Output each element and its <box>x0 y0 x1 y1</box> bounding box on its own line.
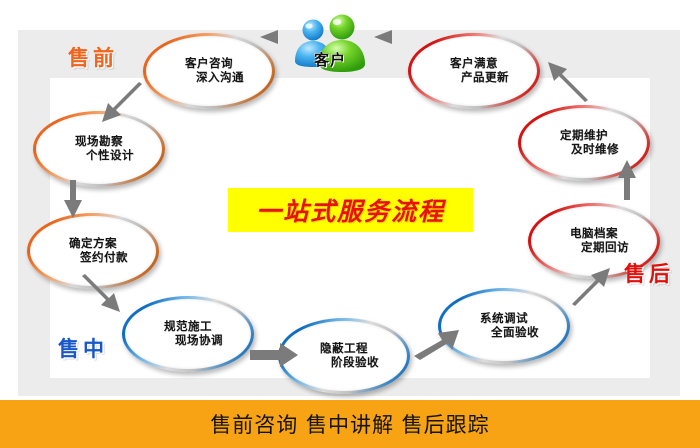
node-n8-label: 定期维护 及时维修 <box>549 129 619 156</box>
node-n4-line2: 现场协调 <box>153 334 223 348</box>
arrow-n5-to-n6 <box>412 322 462 362</box>
node-n8-line1: 定期维护 <box>560 128 608 142</box>
arrow-n4-to-n5 <box>248 340 300 370</box>
footer-text: 售前咨询 售中讲解 售后跟踪 <box>210 409 489 439</box>
node-n6-line2: 全面验收 <box>469 326 539 340</box>
arrow-n2-to-n3 <box>60 178 86 220</box>
node-n5-line2: 阶段验收 <box>309 356 379 370</box>
node-n9-line1: 客户满意 <box>450 56 498 70</box>
node-n2-line1: 现场勘察 <box>75 134 123 148</box>
arrow-n3-to-n4 <box>78 272 128 322</box>
node-n4[interactable]: 规范施工 现场协调 <box>122 296 254 372</box>
arrow-n1-to-n2 <box>96 78 148 130</box>
node-n4-line1: 规范施工 <box>164 319 212 333</box>
arrow-n8-to-n9 <box>540 56 592 104</box>
stage-label-mid-sale: 售中 <box>58 333 108 363</box>
node-n5-label: 隐蔽工程 阶段验收 <box>309 342 379 369</box>
stage-label-pre-sale: 售前 <box>68 42 118 72</box>
node-n9-line2: 产品更新 <box>439 71 509 85</box>
node-n7-line2: 定期回访 <box>559 241 629 255</box>
node-n9-label: 客户满意 产品更新 <box>439 57 509 84</box>
node-n1-line2: 深入沟通 <box>174 71 244 85</box>
footer-banner: 售前咨询 售中讲解 售后跟踪 <box>0 400 700 448</box>
node-n7-line1: 电脑档案 <box>570 226 618 240</box>
node-n1-line1: 客户咨询 <box>185 56 233 70</box>
center-title-banner: 一站式服务流程 <box>228 188 473 232</box>
node-n5-line1: 隐蔽工程 <box>320 341 368 355</box>
node-n2-line2: 个性设计 <box>64 149 134 163</box>
node-n7-label: 电脑档案 定期回访 <box>559 227 629 254</box>
arrow-n7-to-n8 <box>614 158 640 202</box>
diagram-canvas: 客户咨询 深入沟通 现场勘察 个性设计 确定方案 签约付款 规范施工 现场协调 … <box>0 0 700 448</box>
stage-label-post-sale: 售后 <box>624 258 674 288</box>
node-n6-line1: 系统调试 <box>480 311 528 325</box>
arrow-n6-to-n7 <box>568 258 616 308</box>
node-n4-label: 规范施工 现场协调 <box>153 320 223 347</box>
node-n2-label: 现场勘察 个性设计 <box>64 135 134 162</box>
center-title-text: 一站式服务流程 <box>256 192 445 228</box>
node-n3-label: 确定方案 签约付款 <box>58 237 128 264</box>
node-n1-label: 客户咨询 深入沟通 <box>174 57 244 84</box>
node-n3-line1: 确定方案 <box>69 236 117 250</box>
node-n8-line2: 及时维修 <box>549 143 619 157</box>
node-n6-label: 系统调试 全面验收 <box>469 312 539 339</box>
customer-group: 客户 <box>288 14 398 76</box>
node-n3-line2: 签约付款 <box>58 251 128 265</box>
customer-label: 客户 <box>314 49 398 70</box>
